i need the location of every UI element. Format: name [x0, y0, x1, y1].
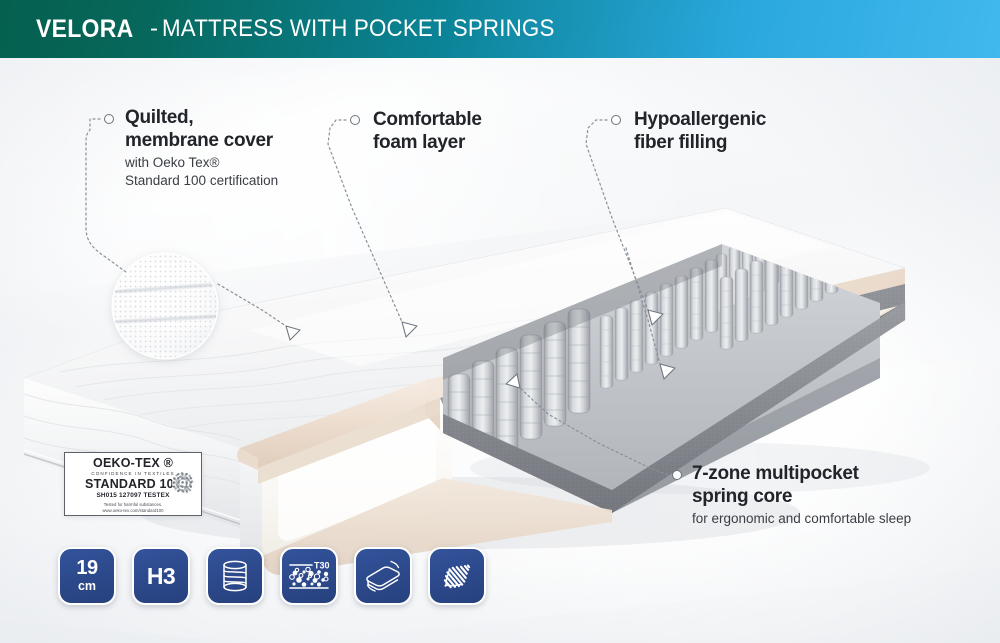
oeko-title: OEKO-TEX ®	[71, 457, 195, 470]
callout-title-line1: Quilted,	[125, 106, 278, 129]
callout-marker-core	[672, 470, 682, 480]
callout-sub-line1: with Oeko Tex®	[125, 154, 278, 172]
callout-fiber-filling: Hypoallergenic fiber filling	[634, 108, 766, 154]
arrowhead-foam	[402, 322, 417, 337]
firmness-badge[interactable]: H3	[132, 547, 190, 605]
header-title: VELORA - MATTRESS WITH POCKET SPRINGS	[36, 0, 584, 58]
callout-title-line2: fiber filling	[634, 131, 766, 154]
callout-title-line2: spring core	[692, 485, 911, 508]
header-bar: VELORA - MATTRESS WITH POCKET SPRINGS	[0, 0, 1000, 58]
spring-coil-badge[interactable]	[428, 547, 486, 605]
callout-marker-foam	[350, 115, 360, 125]
arrowhead-fiber	[648, 310, 663, 325]
title-dash: -	[150, 15, 158, 43]
callout-title-line1: Comfortable	[373, 108, 482, 131]
callout-sub-line2: Standard 100 certification	[125, 172, 278, 190]
callout-title-line2: membrane cover	[125, 129, 278, 152]
breathability-badge[interactable]: T30	[280, 547, 338, 605]
callout-marker-fiber	[611, 115, 621, 125]
callout-title-line2: foam layer	[373, 131, 482, 154]
brand-name: VELORA	[36, 15, 134, 44]
arrowhead-cover	[286, 326, 300, 340]
callout-sub-line1: for ergonomic and comfortable sleep	[692, 510, 911, 528]
arrowhead-fiber-b	[660, 364, 675, 379]
leader-cover	[86, 119, 126, 272]
callout-comfort-foam: Comfortable foam layer	[373, 108, 482, 154]
callout-quilted-cover: Quilted, membrane cover with Oeko Tex® S…	[125, 106, 278, 190]
illustration-stage: Quilted, membrane cover with Oeko Tex® S…	[0, 58, 1000, 643]
firmness-value: H3	[147, 563, 175, 590]
leader-fiber-b	[626, 248, 660, 364]
oeko-emblem-icon	[172, 472, 194, 494]
callout-title-line1: Hypoallergenic	[634, 108, 766, 131]
callout-marker-cover	[104, 114, 114, 124]
arrowhead-core	[506, 374, 520, 388]
reversible-mattress-icon	[363, 559, 403, 593]
header-subtitle: MATTRESS WITH POCKET SPRINGS	[162, 15, 555, 43]
leader-cover-arrow	[218, 284, 286, 326]
callout-spring-core: 7-zone multipocket spring core for ergon…	[692, 462, 911, 528]
height-badge[interactable]: 19 cm	[58, 547, 116, 605]
height-value: 19	[76, 559, 97, 578]
oeko-certificate-code: SH015 127097 TESTEX	[71, 493, 195, 499]
feature-badge-row: 19 cm H3	[58, 547, 486, 605]
spring-coil-icon	[438, 557, 476, 595]
height-unit: cm	[78, 580, 96, 593]
leader-core	[520, 388, 668, 475]
breathability-label: T30	[314, 561, 330, 571]
callout-title-line1: 7-zone multipocket	[692, 462, 911, 485]
breathability-icon: T30	[288, 559, 330, 593]
product-infographic: VELORA - MATTRESS WITH POCKET SPRINGS	[0, 0, 1000, 643]
oeko-tex-label: OEKO-TEX ® CONFIDENCE IN TEXTILES STANDA…	[64, 452, 202, 516]
pocket-spring-badge[interactable]	[206, 547, 264, 605]
reversible-mattress-badge[interactable]	[354, 547, 412, 605]
oeko-fineprint-2: www.oeko-tex.com/standard100	[71, 508, 195, 514]
pocket-spring-icon	[218, 558, 252, 594]
